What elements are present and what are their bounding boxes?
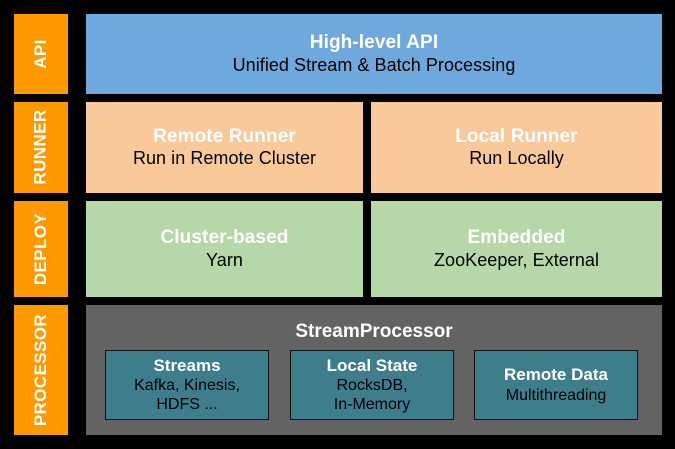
panel-high-level-api: High-level API Unified Stream & Batch Pr… (86, 14, 662, 94)
panel-embedded-title: Embedded (468, 227, 566, 249)
subbox-streams: Streams Kafka, Kinesis, HDFS ... (105, 350, 269, 420)
subbox-remote-data-subtitle-line1: Multithreading (506, 386, 607, 405)
panel-stream-processor-heading: StreamProcessor (86, 321, 662, 343)
panel-local-runner-title: Local Runner (455, 126, 578, 148)
panel-remote-runner-subtitle: Run in Remote Cluster (133, 148, 316, 169)
panel-local-runner: Local Runner Run Locally (371, 102, 662, 193)
panel-remote-runner-title: Remote Runner (153, 126, 296, 148)
panel-cluster-based-title: Cluster-based (160, 227, 288, 249)
band-processor: PROCESSOR (14, 305, 68, 435)
subbox-remote-data: Remote Data Multithreading (474, 350, 638, 420)
subbox-local-state-title: Local State (327, 356, 418, 376)
subbox-local-state-subtitle-line1: RocksDB, (336, 376, 407, 395)
subbox-streams-subtitle-line2: HDFS ... (156, 395, 217, 414)
panel-embedded-subtitle: ZooKeeper, External (434, 250, 599, 271)
subbox-remote-data-title: Remote Data (504, 365, 608, 385)
band-processor-label: PROCESSOR (31, 314, 51, 426)
panel-stream-processor: StreamProcessor Streams Kafka, Kinesis, … (86, 305, 662, 435)
subbox-streams-subtitle-line1: Kafka, Kinesis, (134, 376, 240, 395)
band-deploy: DEPLOY (14, 201, 68, 297)
panel-cluster-based: Cluster-based Yarn (86, 201, 363, 297)
panel-cluster-based-subtitle: Yarn (206, 250, 243, 271)
panel-high-level-api-subtitle: Unified Stream & Batch Processing (233, 55, 516, 76)
panel-local-runner-subtitle: Run Locally (469, 148, 564, 169)
panel-remote-runner: Remote Runner Run in Remote Cluster (86, 102, 363, 193)
band-api-label: API (31, 39, 51, 69)
band-runner-label: RUNNER (31, 110, 51, 185)
band-deploy-label: DEPLOY (31, 213, 51, 285)
subbox-streams-title: Streams (153, 356, 220, 376)
subbox-local-state: Local State RocksDB, In-Memory (290, 350, 454, 420)
panel-embedded: Embedded ZooKeeper, External (371, 201, 662, 297)
architecture-diagram: API High-level API Unified Stream & Batc… (0, 0, 675, 449)
panel-high-level-api-title: High-level API (310, 32, 438, 54)
band-api: API (14, 14, 68, 94)
subbox-local-state-subtitle-line2: In-Memory (334, 395, 410, 414)
band-runner: RUNNER (14, 102, 68, 193)
